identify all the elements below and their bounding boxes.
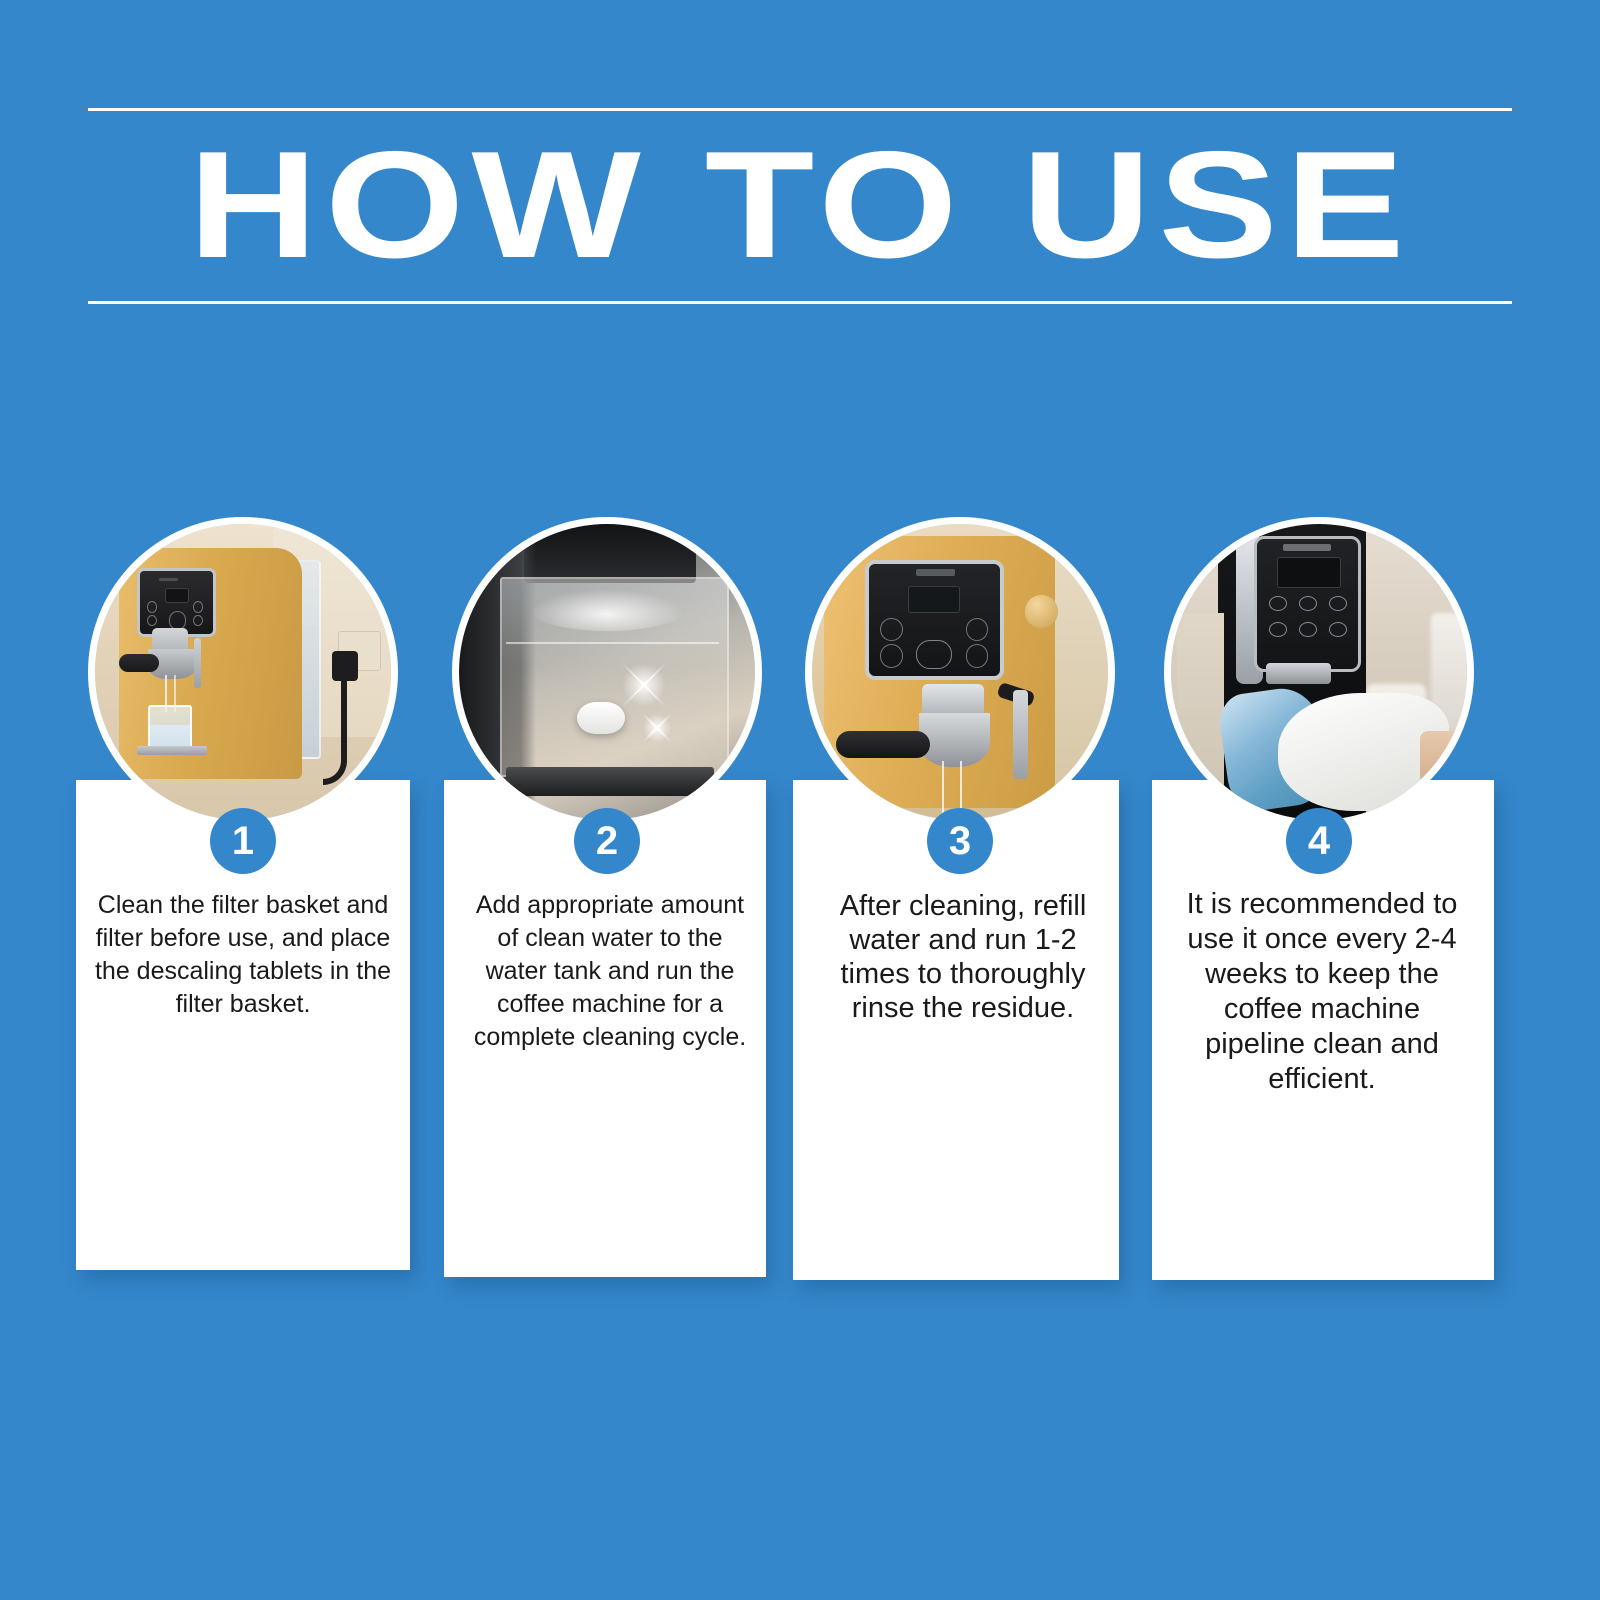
machine-body-shape: [119, 548, 303, 779]
step-caption-2: Add appropriate amount of clean water to…: [470, 889, 750, 1054]
descaling-tablet-shape: [577, 702, 624, 735]
scene-coffee-machine-dispensing: [95, 524, 391, 820]
steps-row: 1 Clean the filter basket and filter bef…: [0, 517, 1600, 1297]
title-rule-top: [88, 108, 1512, 111]
step-photo-1: [88, 517, 398, 827]
step-photo-4: [1164, 517, 1474, 827]
scene-wiping-machine: [1171, 524, 1467, 820]
control-knob-shape: [1025, 595, 1058, 628]
page-title: HOW TO USE: [0, 122, 1600, 288]
step-photo-2: [452, 517, 762, 827]
page-header: HOW TO USE: [88, 108, 1512, 304]
control-panel-shape: [865, 560, 1003, 680]
step-number-badge-2: 2: [574, 808, 640, 874]
title-rule-bottom: [88, 301, 1512, 304]
step-number-badge-1: 1: [210, 808, 276, 874]
step-number-badge-3: 3: [927, 808, 993, 874]
scene-tablet-in-water-tank: [459, 524, 755, 820]
control-panel-shape: [1254, 536, 1361, 672]
step-caption-4: It is recommended to use it once every 2…: [1176, 887, 1468, 1097]
step-caption-1: Clean the filter basket and filter befor…: [90, 889, 396, 1021]
step-number-badge-4: 4: [1286, 808, 1352, 874]
step-photo-3: [805, 517, 1115, 827]
scene-machine-rinsing: [812, 524, 1108, 820]
control-panel-shape: [137, 568, 216, 636]
step-caption-3: After cleaning, refill water and run 1-2…: [815, 889, 1111, 1025]
power-cord-shape: [323, 672, 347, 785]
